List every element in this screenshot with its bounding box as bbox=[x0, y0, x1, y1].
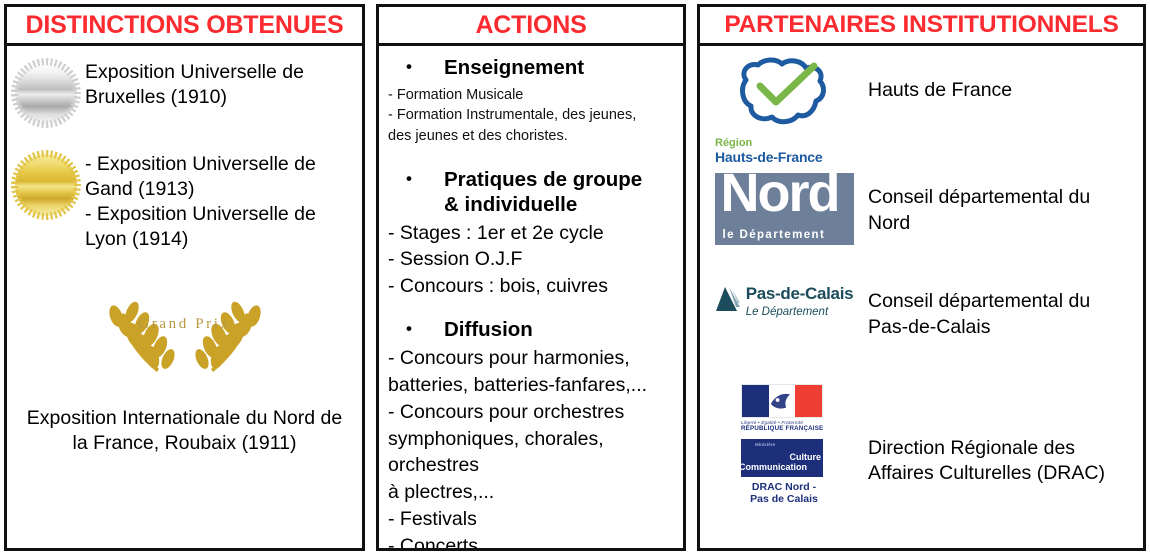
bullet-icon: • bbox=[388, 318, 422, 339]
action-item: - Festivals bbox=[388, 506, 674, 533]
award-line: - Exposition Universelle de bbox=[85, 202, 356, 227]
hauts-de-france-label: Hauts-de-France bbox=[715, 149, 859, 165]
drac-caption-line2: Pas de Calais bbox=[741, 493, 827, 506]
action-section-title: Pratiques de groupe bbox=[444, 168, 642, 191]
le-departement-label: Le Département bbox=[746, 305, 854, 320]
laurel-wreath-icon: Grand Prix bbox=[87, 292, 283, 378]
award-line: Bruxelles (1910) bbox=[85, 85, 356, 110]
ministere-label: Ministère bbox=[755, 442, 775, 447]
action-section-heading: • Enseignement bbox=[388, 56, 674, 81]
communication-label: Communication bbox=[741, 462, 807, 472]
column-header-distinctions: DISTINCTIONS OBTENUES bbox=[4, 4, 365, 46]
action-item: - Session O.J.F bbox=[388, 246, 674, 273]
column-header-distinctions-label: DISTINCTIONS OBTENUES bbox=[25, 13, 343, 38]
column-partners: PARTENAIRES INSTITUTIONNELS Région Hauts… bbox=[697, 4, 1146, 551]
drac-nord-pas-de-calais-logo: Liberté • Égalité • Fraternité RÉPUBLIQU… bbox=[741, 384, 827, 506]
column-header-actions-label: ACTIONS bbox=[475, 13, 586, 38]
action-item: - Formation Musicale bbox=[388, 85, 674, 106]
award-item: - Exposition Universelle de Gand (1913) … bbox=[7, 152, 362, 252]
le-departement-label: le Département bbox=[723, 229, 826, 241]
partner-row: Nord le Département Conseil départementa… bbox=[700, 173, 1143, 245]
column-body-actions: • Enseignement - Formation Musicale - Fo… bbox=[376, 46, 686, 551]
region-hauts-de-france-logo: Région Hauts-de-France bbox=[709, 52, 859, 165]
french-republic-flag-icon bbox=[741, 384, 823, 418]
logo-slot: Région Hauts-de-France bbox=[700, 52, 868, 165]
column-distinctions: DISTINCTIONS OBTENUES Exposition Univers… bbox=[4, 4, 365, 551]
partner-label-line: Pas-de-Calais bbox=[868, 315, 1135, 340]
action-section-items: - Concours pour harmonies, batteries, ba… bbox=[388, 345, 674, 551]
nord-le-departement-logo: Nord le Département bbox=[715, 173, 854, 245]
award-line: Lyon (1914) bbox=[85, 227, 356, 252]
column-body-distinctions: Exposition Universelle de Bruxelles (191… bbox=[4, 46, 365, 551]
partner-label-line: Hauts de France bbox=[868, 78, 1135, 103]
action-item: des jeunes et des choristes. bbox=[388, 126, 674, 147]
action-section-heading: • Pratiques de groupe & individuelle bbox=[388, 168, 674, 217]
culture-label: Culture bbox=[790, 452, 822, 462]
medal-slot bbox=[7, 60, 85, 124]
award-line: Gand (1913) bbox=[85, 177, 356, 202]
column-header-partners: PARTENAIRES INSTITUTIONNELS bbox=[697, 4, 1146, 46]
action-item: - Stages : 1er et 2e cycle bbox=[388, 220, 674, 247]
partner-row: Pas-de-Calais Le Département Conseil dép… bbox=[700, 285, 1143, 340]
column-header-actions: ACTIONS bbox=[376, 4, 686, 46]
action-item: - Concours pour orchestres bbox=[388, 399, 674, 426]
republique-francaise-label: RÉPUBLIQUE FRANÇAISE bbox=[741, 425, 827, 432]
nord-wordmark: Nord bbox=[721, 173, 839, 220]
bullet-icon: • bbox=[388, 168, 422, 189]
grand-prix-caption: Exposition Internationale du Nord de la … bbox=[7, 406, 362, 456]
ministere-culture-box: Ministère Culture Communication bbox=[741, 439, 823, 477]
action-item: - Concerts bbox=[388, 533, 674, 551]
action-item: batteries, batteries-fanfares,... bbox=[388, 372, 674, 399]
action-item: - Concours : bois, cuivres bbox=[388, 273, 674, 300]
caption-line: la France, Roubaix (1911) bbox=[15, 431, 354, 456]
medal-slot bbox=[7, 152, 85, 216]
action-section-title-line2: & individuelle bbox=[444, 193, 674, 218]
three-column-board: DISTINCTIONS OBTENUES Exposition Univers… bbox=[0, 0, 1150, 555]
grand-prix-label: Grand Prix bbox=[87, 316, 283, 333]
award-text: Exposition Universelle de Bruxelles (191… bbox=[85, 60, 362, 110]
action-section-heading: • Diffusion bbox=[388, 318, 674, 343]
column-header-partners-label: PARTENAIRES INSTITUTIONNELS bbox=[724, 13, 1118, 38]
action-item: à plectres,... bbox=[388, 479, 674, 506]
action-section-title: Enseignement bbox=[422, 56, 674, 81]
action-section-title: Diffusion bbox=[422, 318, 674, 343]
partner-label-line: Nord bbox=[868, 211, 1135, 236]
column-body-partners: Région Hauts-de-France Hauts de France N… bbox=[697, 46, 1146, 551]
logo-slot: Pas-de-Calais Le Département bbox=[700, 285, 868, 320]
pas-de-calais-le-departement-logo: Pas-de-Calais Le Département bbox=[715, 285, 854, 320]
grand-prix-wreath-wrap: Grand Prix bbox=[7, 292, 362, 378]
gold-medal-icon bbox=[15, 154, 77, 216]
drac-caption-line1: DRAC Nord - bbox=[741, 481, 827, 494]
partner-label-line: Conseil départemental du bbox=[868, 185, 1135, 210]
caption-line: Exposition Internationale du Nord de bbox=[15, 406, 354, 431]
partner-label-line: Conseil départemental du bbox=[868, 289, 1135, 314]
action-section-items: - Stages : 1er et 2e cycle - Session O.J… bbox=[388, 220, 674, 301]
partner-label-line: Affaires Culturelles (DRAC) bbox=[868, 461, 1135, 486]
silver-medal-icon bbox=[15, 62, 77, 124]
action-item: symphoniques, chorales, orchestres bbox=[388, 426, 674, 480]
partner-label: Direction Régionale des Affaires Culture… bbox=[868, 384, 1143, 487]
partner-row: Liberté • Égalité • Fraternité RÉPUBLIQU… bbox=[700, 384, 1143, 506]
mountain-icon bbox=[715, 285, 741, 315]
region-label: Région bbox=[715, 137, 859, 149]
award-item: Exposition Universelle de Bruxelles (191… bbox=[7, 60, 362, 124]
action-item: - Formation Instrumentale, des jeunes, bbox=[388, 105, 674, 126]
award-text: - Exposition Universelle de Gand (1913) … bbox=[85, 152, 362, 252]
logo-slot: Liberté • Égalité • Fraternité RÉPUBLIQU… bbox=[700, 384, 868, 506]
pas-de-calais-wordmark: Pas-de-Calais bbox=[746, 285, 854, 304]
bullet-icon: • bbox=[388, 56, 422, 77]
action-section-items: - Formation Musicale - Formation Instrum… bbox=[388, 85, 674, 147]
award-line: Exposition Universelle de bbox=[85, 60, 356, 85]
partner-label: Hauts de France bbox=[868, 52, 1143, 103]
partner-label: Conseil départemental du Pas-de-Calais bbox=[868, 285, 1143, 340]
column-actions: ACTIONS • Enseignement - Formation Music… bbox=[376, 4, 686, 551]
award-line: - Exposition Universelle de bbox=[85, 152, 356, 177]
partner-row: Région Hauts-de-France Hauts de France bbox=[700, 52, 1143, 165]
action-item: - Concours pour harmonies, bbox=[388, 345, 674, 372]
partner-label-line: Direction Régionale des bbox=[868, 436, 1135, 461]
logo-slot: Nord le Département bbox=[700, 173, 868, 245]
partner-label: Conseil départemental du Nord bbox=[868, 173, 1143, 236]
